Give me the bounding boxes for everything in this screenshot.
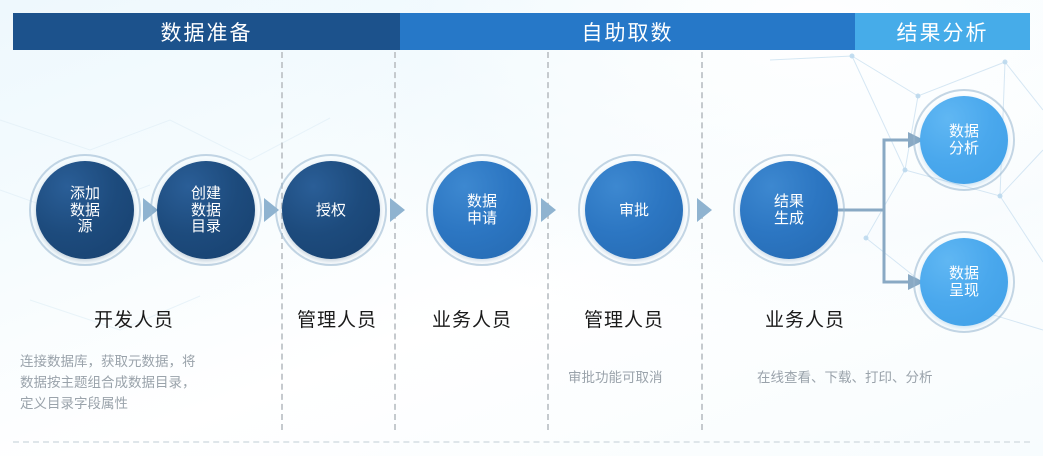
node-data-presentation[interactable]: 数据呈现 [920,238,1008,326]
role-business-2: 业务人员 [745,305,865,332]
chevron-5 [697,198,712,222]
note-approval: 审批功能可取消 [568,368,663,389]
phase-label: 自助取数 [582,17,674,47]
note-line: 定义目录字段属性 [20,394,196,415]
role-admin-1: 管理人员 [277,305,397,332]
note-line: 连接数据库，获取元数据，将 [20,352,196,373]
node-add-data-source[interactable]: 添加数据源 [36,161,134,259]
node-result-generation[interactable]: 结果生成 [740,161,838,259]
node-data-analysis[interactable]: 数据分析 [920,96,1008,184]
role-business-1: 业务人员 [412,305,532,332]
note-data-preparation: 连接数据库，获取元数据，将数据按主题组合成数据目录，定义目录字段属性 [20,352,196,415]
divider-4 [701,52,703,430]
phase-label: 数据准备 [161,17,253,47]
node-label: 数据申请 [463,193,501,227]
note-line: 数据按主题组合成数据目录， [20,373,196,394]
divider-3 [547,52,549,430]
note-result: 在线查看、下载、打印、分析 [757,368,933,389]
phase-header-bar: 数据准备 自助取数 结果分析 [13,13,1030,50]
phase-self-service-query: 自助取数 [400,13,855,50]
node-label: 审批 [615,202,653,219]
diagram-canvas: 数据准备 自助取数 结果分析 添加数据源创建数据目录授权数据申请审批结果生成数据… [0,0,1043,456]
node-data-request[interactable]: 数据申请 [433,161,531,259]
note-line: 审批功能可取消 [568,368,663,389]
divider-2 [394,52,396,430]
role-admin-2: 管理人员 [564,305,684,332]
divider-1 [281,52,283,430]
node-create-catalog[interactable]: 创建数据目录 [157,161,255,259]
node-label: 数据呈现 [945,265,983,299]
phase-data-preparation: 数据准备 [13,13,400,50]
node-label: 添加数据源 [66,185,104,235]
bottom-divider [13,441,1030,443]
node-label: 结果生成 [770,193,808,227]
role-developer: 开发人员 [74,305,194,332]
phase-label: 结果分析 [897,17,989,47]
node-approval[interactable]: 审批 [585,161,683,259]
note-line: 在线查看、下载、打印、分析 [757,368,933,389]
chevron-4 [541,198,556,222]
node-authorize[interactable]: 授权 [282,161,380,259]
phase-result-analysis: 结果分析 [855,13,1030,50]
chevron-3 [390,198,405,222]
node-label: 数据分析 [945,123,983,157]
node-label: 创建数据目录 [187,185,225,235]
node-label: 授权 [312,202,350,219]
